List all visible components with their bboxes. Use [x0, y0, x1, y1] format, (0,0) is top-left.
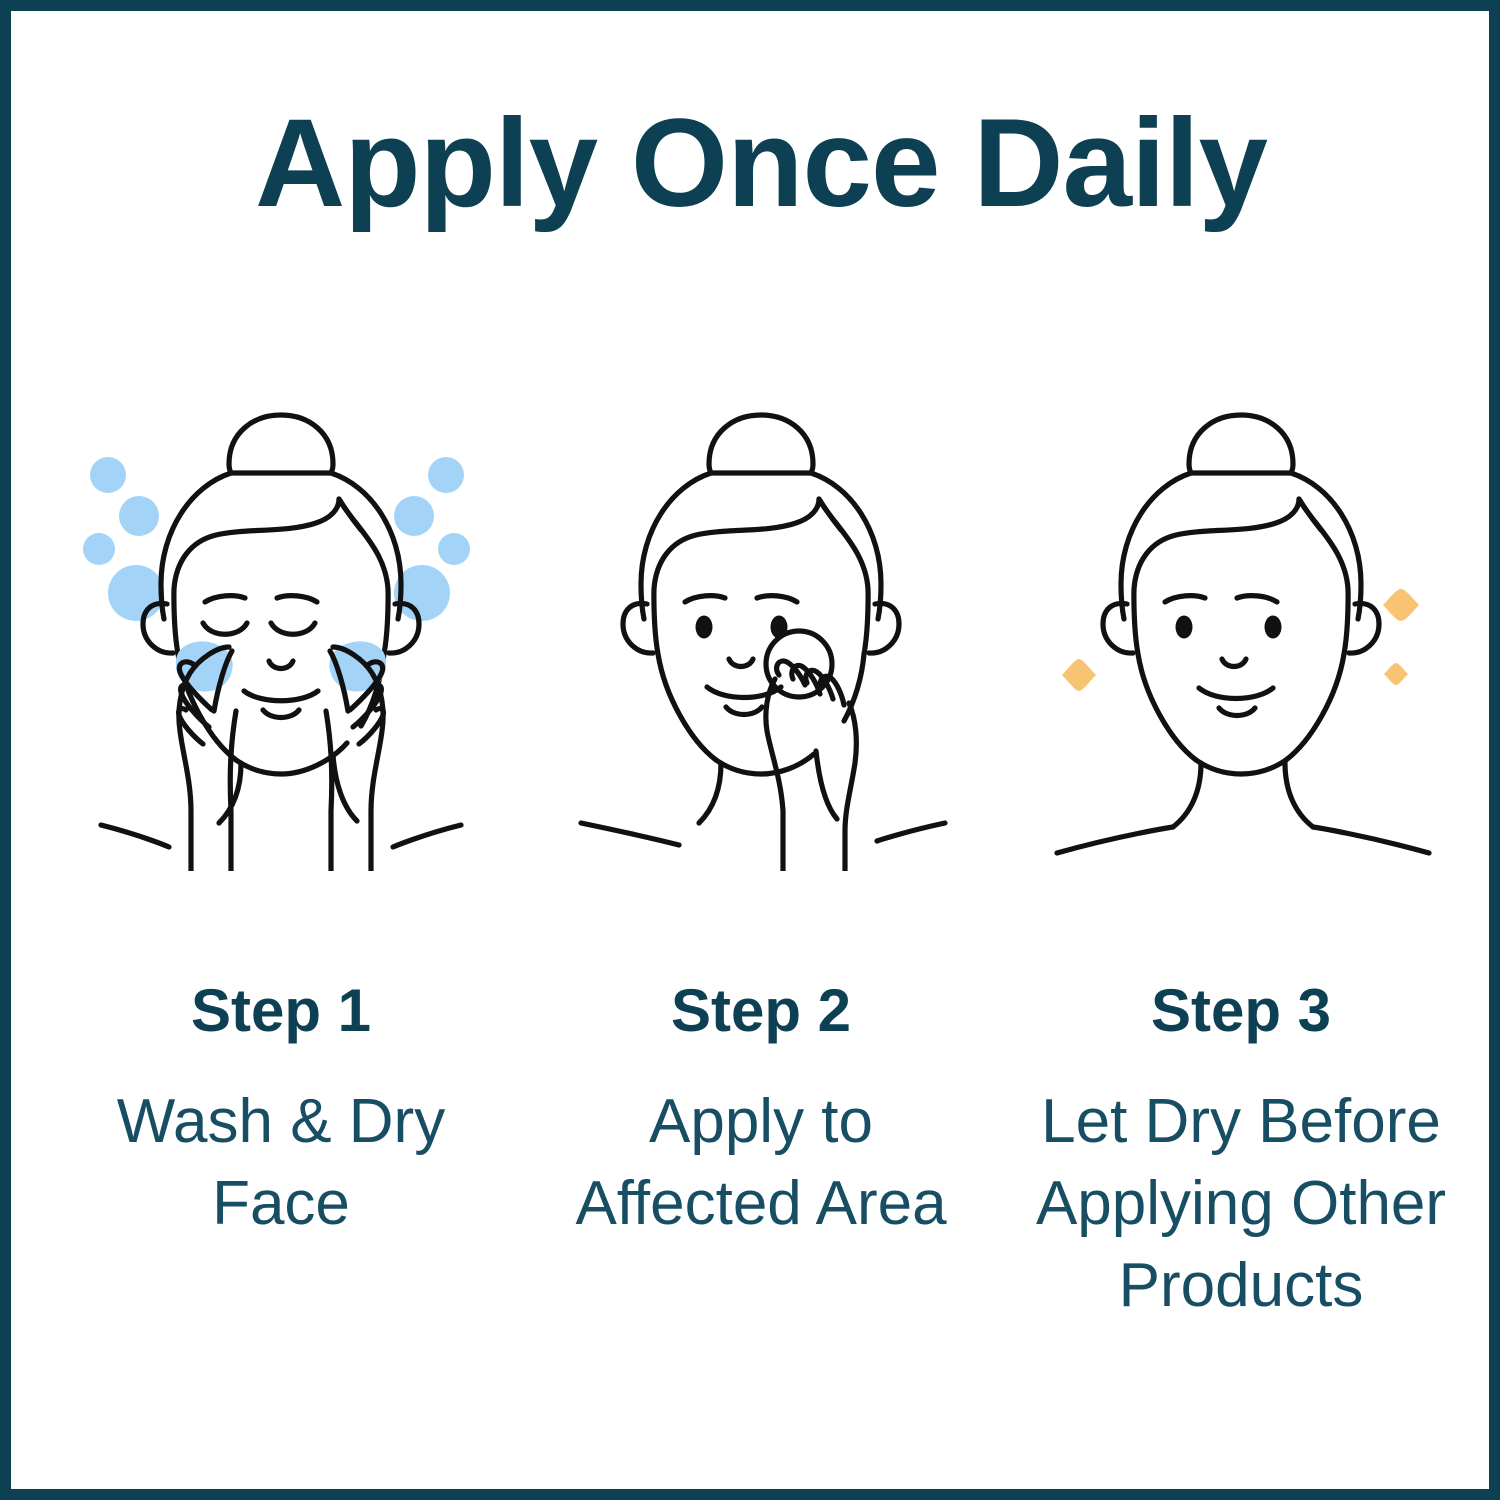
steps-row: Step 1 Wash & Dry Face — [11, 411, 1500, 1326]
sparkle-small-right-icon — [1384, 663, 1408, 685]
bubble-group-left — [83, 457, 164, 621]
step-caption-2: Apply to Affected Area — [546, 1081, 976, 1245]
step-panel-1: Step 1 Wash & Dry Face — [41, 411, 521, 1245]
bubble-group-right — [394, 457, 470, 621]
woman-washing-face-with-bubbles-illustration — [81, 411, 481, 871]
step-caption-1: Wash & Dry Face — [81, 1081, 481, 1245]
step-panel-3: Step 3 Let Dry Before Applying Other Pro… — [1001, 411, 1481, 1326]
sparkle-medium-left-icon — [1062, 659, 1096, 691]
page-title: Apply Once Daily — [11, 95, 1500, 233]
sparkle-large-icon — [1383, 589, 1419, 621]
step-panel-2: Step 2 Apply to Affected Area — [521, 411, 1001, 1245]
step-label-3: Step 3 — [1151, 981, 1331, 1041]
poster-card: Apply Once Daily — [0, 0, 1500, 1500]
step-label-2: Step 2 — [671, 981, 851, 1041]
step-label-1: Step 1 — [191, 981, 371, 1041]
step-caption-3: Let Dry Before Applying Other Products — [1016, 1081, 1466, 1326]
woman-clean-face-with-sparkles-illustration — [1041, 411, 1441, 871]
woman-applying-with-cotton-pad-illustration — [561, 411, 961, 871]
